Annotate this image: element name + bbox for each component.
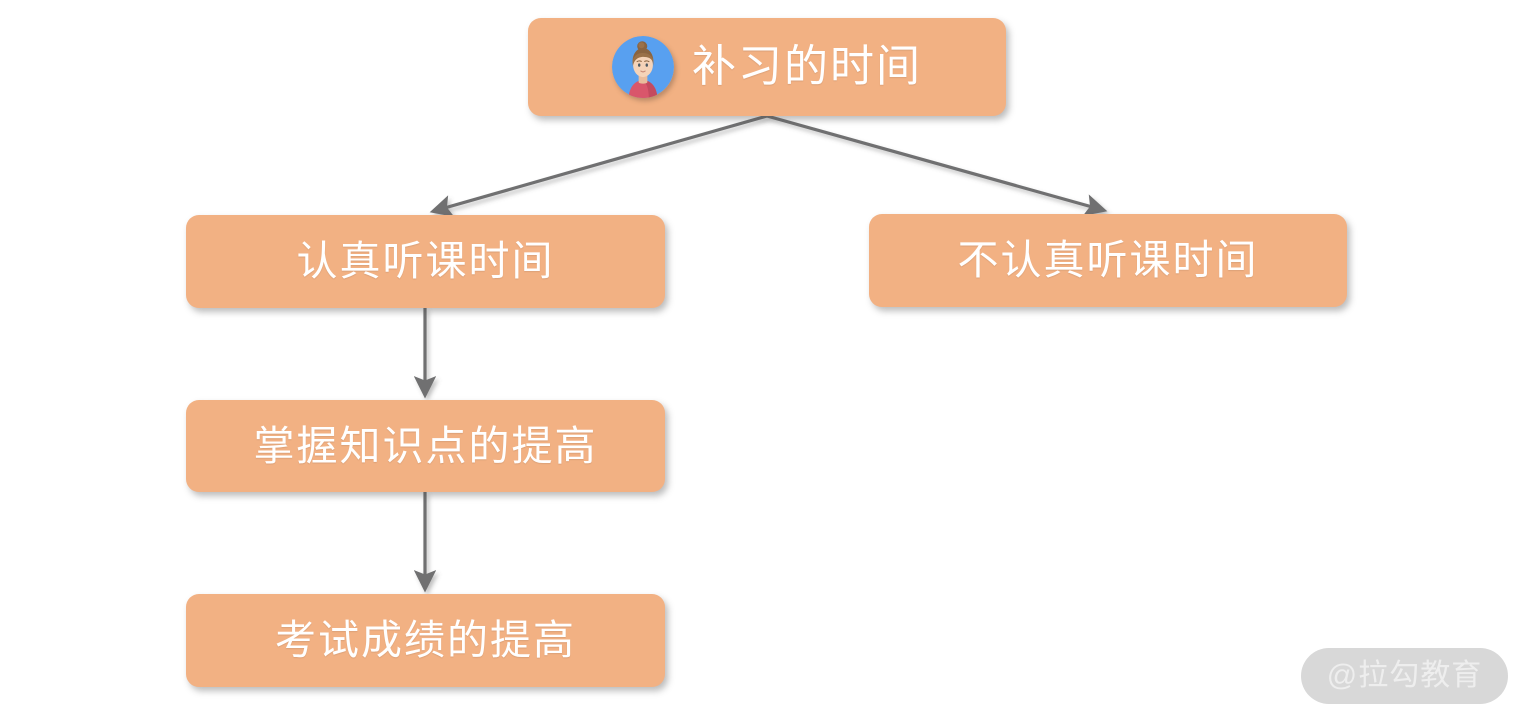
watermark-text: @拉勾教育 <box>1327 661 1482 691</box>
node-knowledge-mastery-improvement[interactable]: 掌握知识点的提高 <box>186 400 665 492</box>
edge-root-to-attentive <box>434 116 767 211</box>
node-attentive-class-time[interactable]: 认真听课时间 <box>186 215 665 308</box>
node-knowledge-label: 掌握知识点的提高 <box>254 426 598 467</box>
node-inattentive-class-time[interactable]: 不认真听课时间 <box>869 214 1347 307</box>
edge-root-to-inattentive <box>767 116 1103 210</box>
node-attentive-label: 认真听课时间 <box>297 241 555 282</box>
node-score-label: 考试成绩的提高 <box>275 620 576 661</box>
watermark-badge: @拉勾教育 <box>1301 648 1508 704</box>
node-inattentive-label: 不认真听课时间 <box>958 240 1259 281</box>
node-root-label: 补习的时间 <box>692 45 922 89</box>
node-exam-score-improvement[interactable]: 考试成绩的提高 <box>186 594 665 687</box>
student-avatar-icon <box>612 36 674 98</box>
diagram-canvas: 补习的时间 认真听课时间 不认真听课时间 掌握知识点的提高 考试成绩的提高 @拉… <box>0 0 1532 724</box>
node-root-tutoring-time[interactable]: 补习的时间 <box>528 18 1006 116</box>
